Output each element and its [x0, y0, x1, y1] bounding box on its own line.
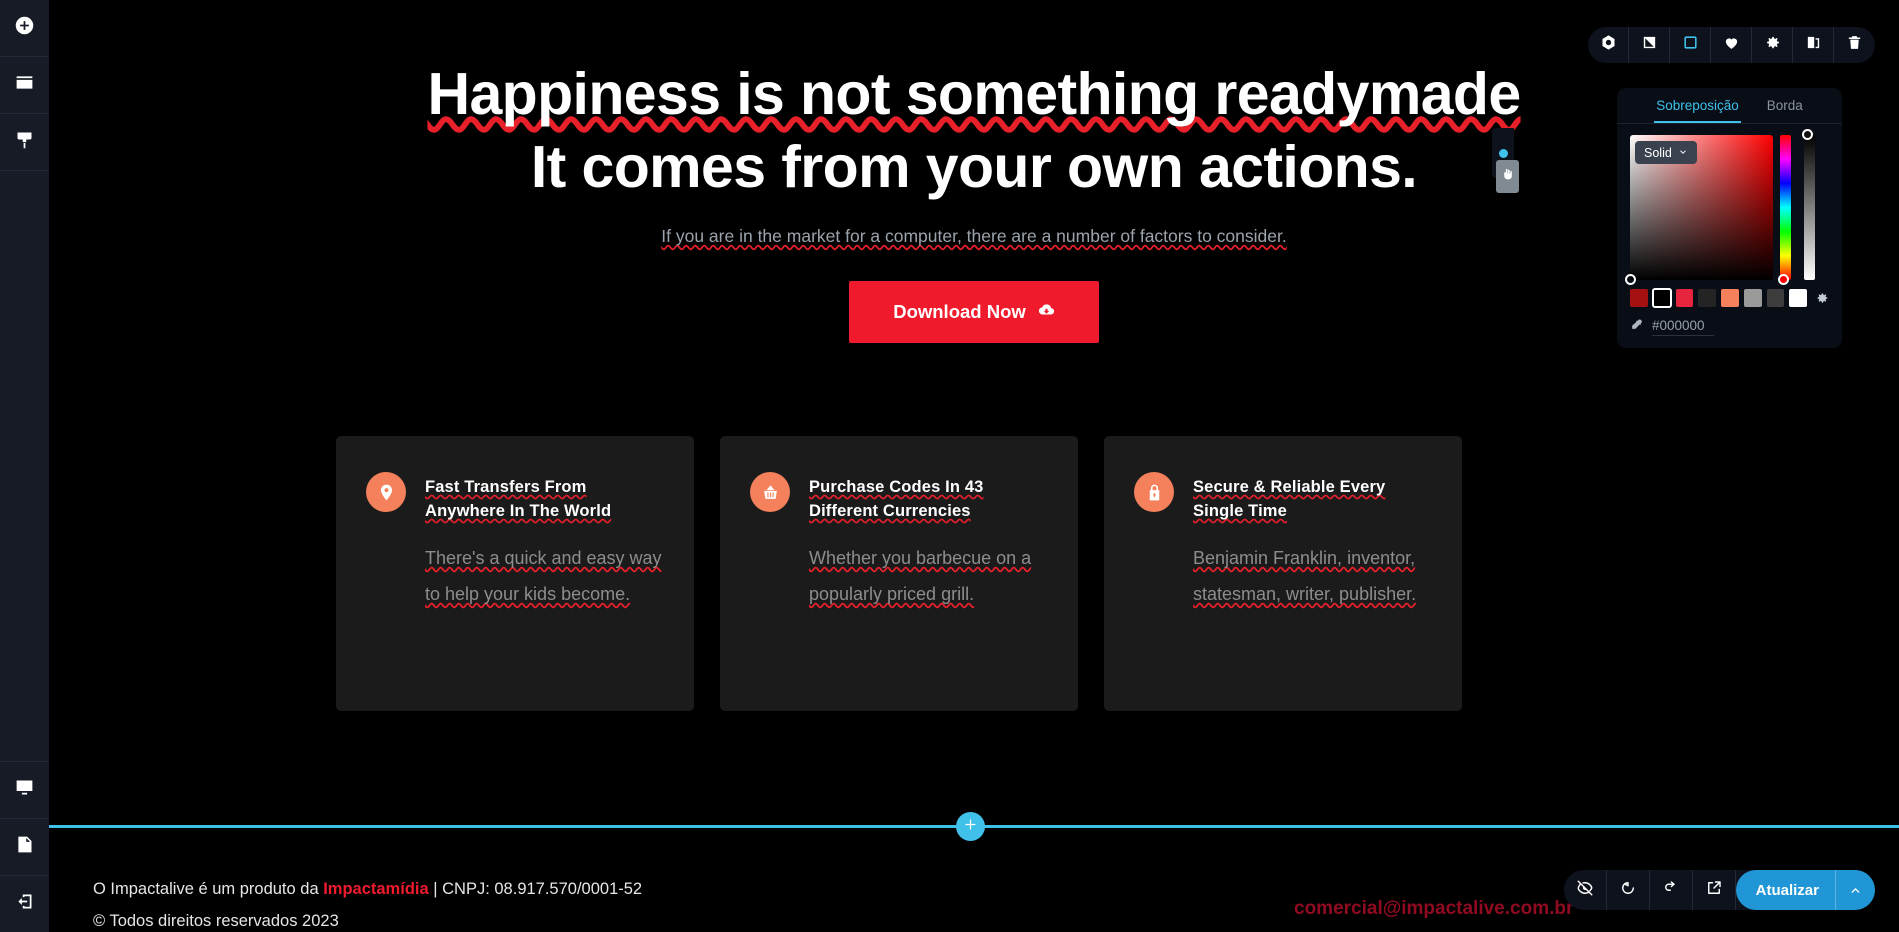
handle-dot-icon: [1499, 149, 1508, 158]
card-title: Secure & Reliable Every Single Time: [1193, 472, 1432, 523]
eye-off-icon: [1576, 879, 1594, 902]
logout-icon: [14, 891, 35, 917]
footer-email: comercial@impactalive.com.br: [1294, 898, 1573, 920]
action-redo[interactable]: [1650, 870, 1693, 910]
copy-icon: [1805, 34, 1822, 56]
basket-icon: [750, 472, 790, 512]
swatch[interactable]: [1744, 289, 1762, 307]
feature-card[interactable]: Secure & Reliable Every Single Time Benj…: [1104, 436, 1462, 711]
external-link-icon: [1705, 879, 1723, 902]
toolbar-button-delete[interactable]: [1834, 27, 1875, 63]
plus-circle-icon: [14, 15, 35, 41]
swatch[interactable]: [1789, 289, 1807, 307]
bottom-action-bar: Atualizar: [1564, 870, 1875, 910]
update-button[interactable]: Atualizar: [1736, 870, 1875, 910]
undo-icon: [1619, 879, 1637, 902]
sv-handle[interactable]: [1625, 274, 1636, 285]
card-body: There's a quick and easy way to help you…: [366, 540, 664, 612]
swatch[interactable]: [1630, 289, 1648, 307]
sidebar-bottom-group: [0, 761, 49, 932]
editor-root: Happiness is not something readymade It …: [0, 0, 1899, 932]
card-title: Fast Transfers From Anywhere In The Worl…: [425, 472, 664, 523]
gear-icon: [1764, 34, 1781, 56]
color-swatches: [1630, 289, 1829, 307]
sidebar-item-preview-desktop[interactable]: [0, 761, 49, 818]
swatch[interactable]: [1767, 289, 1785, 307]
heart-icon: [1723, 34, 1740, 56]
card-header: Purchase Codes In 43 Different Currencie…: [750, 472, 1048, 523]
sidebar-item-page-settings[interactable]: [0, 818, 49, 875]
footer[interactable]: O Impactalive é um produto da Impactamíd…: [93, 876, 642, 932]
hexagon-icon: [1600, 34, 1617, 56]
picker-body: Solid: [1617, 124, 1842, 348]
download-now-button[interactable]: Download Now: [849, 281, 1099, 343]
color-picker-panel: Sobreposição Borda Solid: [1617, 88, 1842, 348]
sidebar-item-exit[interactable]: [0, 875, 49, 932]
redo-icon: [1662, 879, 1680, 902]
cta-label: Download Now: [893, 301, 1026, 323]
swatch[interactable]: [1676, 289, 1694, 307]
hex-input-row: #000000: [1630, 318, 1829, 336]
tab-borda[interactable]: Borda: [1765, 98, 1805, 123]
toolbar-button-duplicate[interactable]: [1793, 27, 1834, 63]
toolbar-button-gradient[interactable]: [1629, 27, 1670, 63]
footer-brand: Impactamídia: [323, 880, 428, 898]
tab-sobreposicao[interactable]: Sobreposição: [1654, 98, 1741, 123]
drag-handle[interactable]: [1496, 160, 1519, 193]
swatch[interactable]: [1721, 289, 1739, 307]
update-caret-up-icon[interactable]: [1835, 870, 1875, 910]
hand-drag-icon: [1501, 168, 1514, 186]
add-section-button[interactable]: [956, 812, 985, 841]
square-outline-icon: [1682, 34, 1699, 56]
toolbar-button-favorite[interactable]: [1711, 27, 1752, 63]
toolbar-button-shape[interactable]: [1588, 27, 1629, 63]
trash-icon: [1846, 34, 1863, 56]
cloud-download-icon: [1038, 301, 1055, 323]
window-icon: [14, 72, 35, 98]
toolbar-button-background[interactable]: [1670, 27, 1711, 63]
paint-brush-icon: [14, 129, 35, 155]
hue-slider[interactable]: [1780, 135, 1791, 280]
picker-tabs: Sobreposição Borda: [1617, 88, 1842, 124]
feature-card[interactable]: Purchase Codes In 43 Different Currencie…: [720, 436, 1078, 711]
hue-handle[interactable]: [1778, 274, 1789, 285]
action-hide-preview[interactable]: [1564, 870, 1607, 910]
brightness-slider[interactable]: [1804, 135, 1815, 280]
footer-prefix: O Impactalive é um produto da: [93, 880, 323, 898]
fill-mode-dropdown[interactable]: Solid: [1635, 141, 1697, 164]
chevron-down-icon: [1678, 146, 1688, 160]
feature-cards: Fast Transfers From Anywhere In The Worl…: [336, 436, 1516, 711]
fill-mode-label: Solid: [1644, 146, 1672, 160]
action-undo[interactable]: [1607, 870, 1650, 910]
picker-gradient-row: Solid: [1630, 135, 1829, 280]
card-title: Purchase Codes In 43 Different Currencie…: [809, 472, 1048, 523]
saturation-value-area[interactable]: Solid: [1630, 135, 1773, 280]
brightness-handle[interactable]: [1802, 129, 1813, 140]
footer-line1: O Impactalive é um produto da Impactamíd…: [93, 876, 642, 902]
footer-line2: © Todos direitos reservados 2023: [93, 908, 642, 932]
card-header: Secure & Reliable Every Single Time: [1134, 472, 1432, 523]
toolbar-button-settings[interactable]: [1752, 27, 1793, 63]
page-icon: [14, 834, 35, 860]
sidebar-item-add-element[interactable]: [0, 0, 49, 57]
swatch[interactable]: [1653, 289, 1671, 307]
sidebar-item-pages[interactable]: [0, 57, 49, 114]
half-fill-icon: [1641, 34, 1658, 56]
swatch[interactable]: [1698, 289, 1716, 307]
card-body: Whether you barbecue on a popularly pric…: [750, 540, 1048, 612]
feature-card[interactable]: Fast Transfers From Anywhere In The Worl…: [336, 436, 694, 711]
lock-icon: [1134, 472, 1174, 512]
card-body: Benjamin Franklin, inventor, statesman, …: [1134, 540, 1432, 612]
update-button-label: Atualizar: [1736, 882, 1835, 899]
swatch-settings-gear-icon[interactable]: [1815, 291, 1829, 305]
eyedropper-icon[interactable]: [1630, 318, 1643, 336]
hex-value-field[interactable]: #000000: [1652, 318, 1714, 336]
card-header: Fast Transfers From Anywhere In The Worl…: [366, 472, 664, 523]
monitor-icon: [14, 777, 35, 803]
action-open-external[interactable]: [1693, 870, 1736, 910]
left-sidebar: [0, 0, 49, 932]
sidebar-top-group: [0, 0, 49, 171]
footer-suffix: | CNPJ: 08.917.570/0001-52: [429, 880, 642, 898]
element-toolbar: [1588, 27, 1875, 63]
plus-icon: [963, 817, 978, 837]
sidebar-item-theme[interactable]: [0, 114, 49, 171]
location-pin-icon: [366, 472, 406, 512]
